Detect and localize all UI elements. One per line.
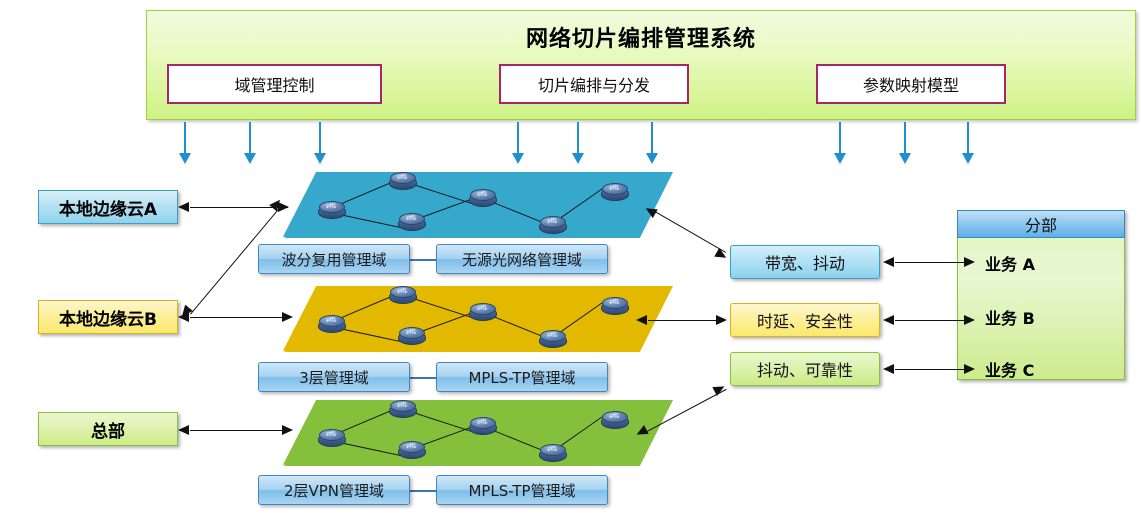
network-plane-ip-mpls: ⇄⇅ ⇄⇅ ⇄⇅ ⇄⇅ ⇄⇅ ⇄⇅ [283,286,673,352]
router-icon: ⇄⇅ [539,216,565,235]
module-slice-orchestration-distribution[interactable]: 切片编排与分发 [499,64,689,104]
feed-down-arrow-icon [572,122,584,164]
entity-local-edge-cloud-b[interactable]: 本地边缘云B [38,300,178,334]
connector-line [648,320,720,321]
requirement-jitter-reliability[interactable]: 抖动、可靠性 [730,352,880,386]
arrow-head-icon [964,364,975,374]
domain-tag-l3[interactable]: 3层管理域 [258,362,410,392]
router-icon: ⇄⇅ [601,297,627,316]
router-icon: ⇄⇅ [469,417,495,436]
router-icon: ⇄⇅ [469,303,495,322]
domain-tag-pon[interactable]: 无源光网络管理域 [436,244,608,274]
arrow-head-icon [178,202,189,212]
router-icon: ⇄⇅ [601,183,627,202]
router-icon: ⇄⇅ [389,286,415,305]
router-icon: ⇄⇅ [601,411,627,430]
requirement-bandwidth-jitter[interactable]: 带宽、抖动 [730,245,880,279]
connector-line [190,430,290,431]
arrow-head-icon [883,315,894,325]
arrow-head-icon [178,425,189,435]
arrow-head-icon [964,315,975,325]
router-icon: ⇄⇅ [389,400,415,419]
feed-down-arrow-icon [834,122,846,164]
feed-down-arrow-icon [244,122,256,164]
module-parameter-mapping-model[interactable]: 参数映射模型 [816,64,1006,104]
router-icon: ⇄⇅ [318,315,344,334]
arrow-head-icon [282,312,293,322]
requirement-latency-security[interactable]: 时延、安全性 [730,303,880,337]
router-icon: ⇄⇅ [398,441,424,460]
tag-connector [408,490,438,492]
router-icon: ⇄⇅ [539,330,565,349]
tag-connector [408,259,438,261]
arrow-head-icon [282,425,293,435]
entity-headquarters[interactable]: 总部 [38,412,178,446]
network-plane-l2vpn: ⇄⇅ ⇄⇅ ⇄⇅ ⇄⇅ ⇄⇅ ⇄⇅ [283,400,673,466]
feed-down-arrow-icon [512,122,524,164]
domain-tag-mpls-tp-2[interactable]: MPLS-TP管理域 [436,475,608,505]
arrow-head-icon [716,315,727,325]
feed-down-arrow-icon [179,122,191,164]
service-item-c[interactable]: 业务 C [985,358,1095,380]
connector-line [895,262,967,263]
feed-down-arrow-icon [899,122,911,164]
arrow-head-icon [636,315,647,325]
feed-down-arrow-icon [962,122,974,164]
router-icon: ⇄⇅ [539,444,565,463]
feed-down-arrow-icon [646,122,658,164]
router-icon: ⇄⇅ [389,172,415,191]
router-icon: ⇄⇅ [469,189,495,208]
connector-line [895,369,967,370]
tag-connector [408,377,438,379]
router-icon: ⇄⇅ [318,429,344,448]
arrow-head-icon [964,257,975,267]
connector-line [895,320,967,321]
arrow-head-icon [714,248,729,262]
domain-tag-mpls-tp-1[interactable]: MPLS-TP管理域 [436,362,608,392]
router-icon: ⇄⇅ [318,201,344,220]
domain-tag-l2vpn[interactable]: 2层VPN管理域 [258,475,410,505]
network-plane-optical: ⇄⇅ ⇄⇅ ⇄⇅ ⇄⇅ ⇄⇅ ⇄⇅ [283,172,673,238]
entity-local-edge-cloud-a[interactable]: 本地边缘云A [38,190,178,224]
diagram-canvas: 网络切片编排管理系统 域管理控制 切片编排与分发 参数映射模型 本地边缘云A 本… [0,0,1141,523]
feed-down-arrow-icon [314,122,326,164]
connector-line [190,317,290,318]
arrow-head-icon [883,257,894,267]
page-title: 网络切片编排管理系统 [146,20,1136,54]
service-item-a[interactable]: 业务 A [985,252,1095,274]
domain-tag-wdm[interactable]: 波分复用管理域 [258,244,410,274]
router-icon: ⇄⇅ [398,327,424,346]
branch-panel-header: 分部 [957,210,1125,238]
arrow-head-icon [883,364,894,374]
router-icon: ⇄⇅ [398,213,424,232]
service-item-b[interactable]: 业务 B [985,306,1095,328]
module-domain-management-control[interactable]: 域管理控制 [167,64,382,104]
